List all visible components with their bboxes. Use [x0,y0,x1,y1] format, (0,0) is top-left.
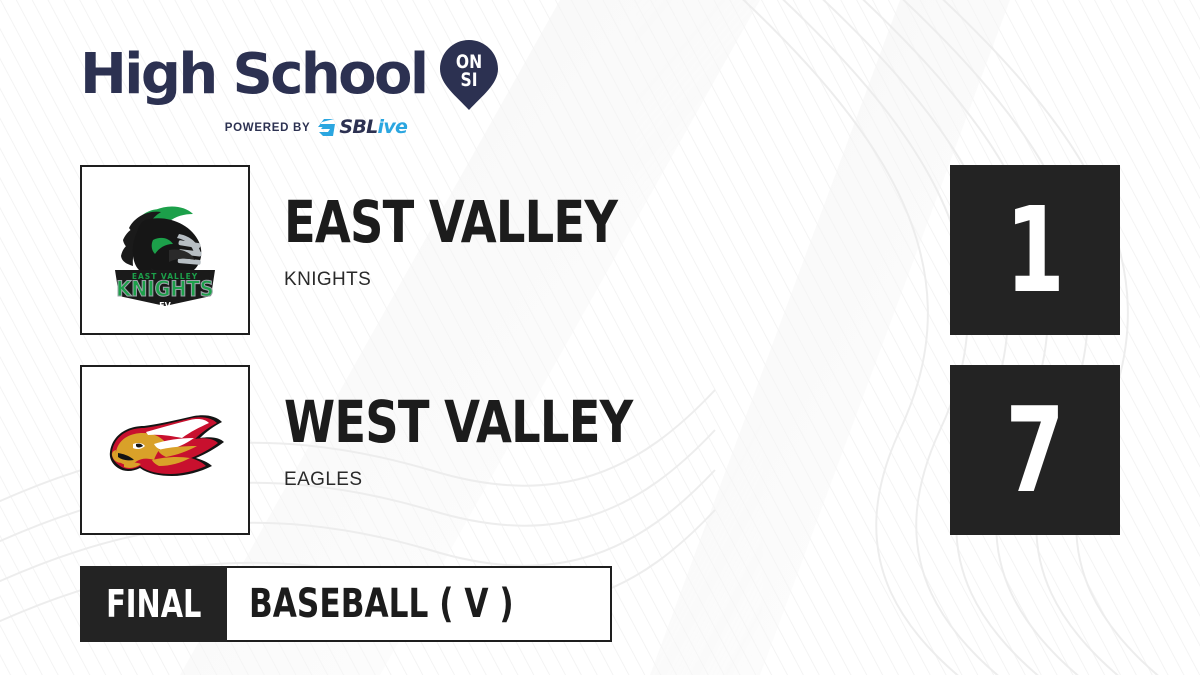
team-name: WEST VALLEY [284,393,632,451]
status-badge: FINAL [80,566,227,642]
team-name: EAST VALLEY [284,193,617,251]
east-valley-knights-logo: EAST VALLEY KNIGHTS EV [80,165,250,335]
team-score-box: 7 [950,365,1120,535]
team-row: WEST VALLEY EAGLES 7 [0,365,1200,535]
team-score: 7 [1005,391,1064,509]
team-identity: WEST VALLEY EAGLES [284,393,720,491]
sport-label-box: BASEBALL ( V ) [227,566,612,642]
game-status-bar: FINAL BASEBALL ( V ) [80,566,612,642]
sblive-s-mark-icon [317,118,336,137]
sblive-word-blue: ive [378,116,408,138]
powered-by-label: POWERED BY [225,122,311,134]
west-valley-eagles-logo [80,365,250,535]
powered-by-row: POWERED BY SBLive [122,118,510,137]
sblive-word-dark: SBL [339,116,377,138]
brand-logo: High School ON SI POWERED BY SBLive [80,38,510,137]
brand-row: High School ON SI [80,38,510,112]
team-score: 1 [1005,191,1064,309]
sblive-logo: SBLive [317,118,407,137]
pin-line-2: SI [461,70,478,92]
logo-mascot-text: KNIGHTS [116,276,213,301]
brand-title: High School [80,48,426,102]
team-identity: EAST VALLEY KNIGHTS [284,193,700,291]
sblive-wordmark: SBLive [339,118,407,137]
sport-label: BASEBALL ( V ) [249,584,514,624]
team-score-box: 1 [950,165,1120,335]
logo-initials-text: EV [159,301,171,310]
team-mascot: EAGLES [284,469,720,491]
team-row: EAST VALLEY KNIGHTS EV EAST VALLEY KNIGH… [0,165,1200,335]
on-si-pin-icon: ON SI [438,38,500,112]
team-mascot: KNIGHTS [284,269,700,291]
status-state-label: FINAL [106,585,201,623]
